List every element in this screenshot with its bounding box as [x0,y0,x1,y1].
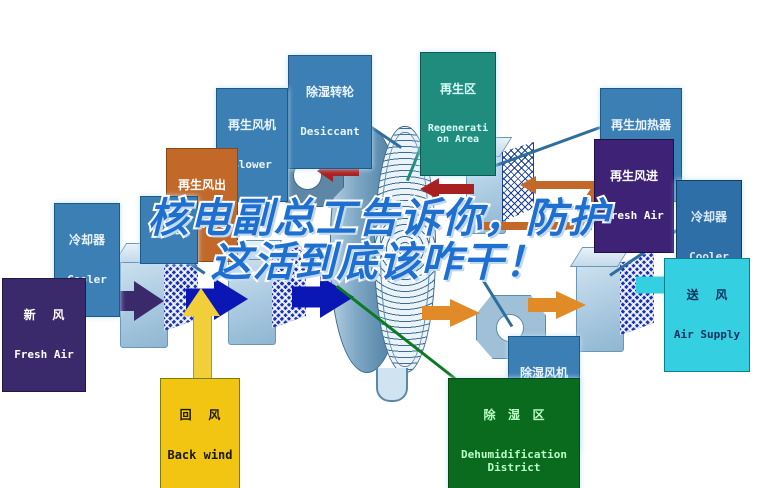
arrow-back-wind [182,288,220,380]
label-air-supply-en: Air Supply [667,329,747,341]
label-regen-heater-cn: 再生加热器 [603,119,679,132]
label-dehum-district-cn: 除 湿 区 [451,409,577,422]
label-regen-area[interactable]: 再生区 Regenerati on Area [420,52,496,176]
label-regen-blower-cn: 再生风机 [219,119,285,132]
arrow-dry-air-1 [422,300,480,326]
label-desiccant-cn: 除湿转轮 [291,86,369,99]
label-desiccant-en: Desiccant [291,126,369,138]
headline-overlay: 核电副总工告诉你，防护 这活到底该咋干！ [0,196,757,285]
arrow-dry-air-2 [528,292,586,318]
label-exhaust-cn: 再生风出 [169,179,235,192]
label-desiccant[interactable]: 除湿转轮 Desiccant [288,55,372,169]
label-back-wind-cn: 回 风 [163,409,237,422]
label-regen-area-cn: 再生区 [423,83,493,96]
rotor-drive-belt [376,368,408,402]
label-fresh-air[interactable]: 新 风 Fresh Air [2,278,86,392]
label-back-wind-en: Back wind [163,449,237,462]
headline-line-1: 核电副总工告诉你，防护 [0,196,757,240]
label-fresh-air-cn: 新 风 [5,309,83,322]
label-regen-fresh-air-cn: 再生风进 [597,170,671,183]
label-dehum-district-en: Dehumidification District [451,449,577,474]
label-regen-area-en: Regenerati on Area [423,123,493,145]
label-fresh-air-en: Fresh Air [5,349,83,361]
label-back-wind[interactable]: 回 风 Back wind [160,378,240,488]
headline-line-2: 这活到底该咋干！ [0,240,757,284]
label-dehum-district[interactable]: 除 湿 区 Dehumidification District [448,378,580,488]
diagram-canvas: XT [0,0,757,488]
label-air-supply-cn: 送 风 [667,289,747,302]
